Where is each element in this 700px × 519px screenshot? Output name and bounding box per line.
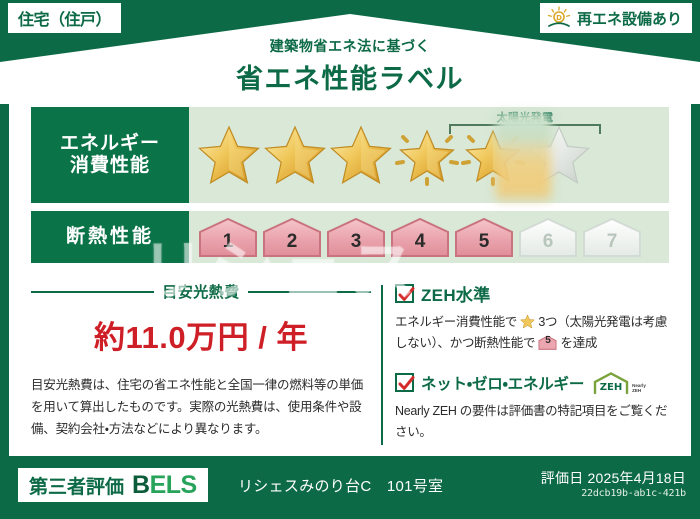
star-filled-2 [263, 123, 327, 187]
star-icon [520, 314, 535, 329]
utility-cost-block: 目安光熱費 約11.0万円 / 年 目安光熱費は、住宅の省エネ性能と全国一律の燃… [31, 281, 371, 441]
zeh-block: ZEH水準 エネルギー消費性能で 3つ（太陽光発電は考慮しない）、かつ断熱性能で… [395, 281, 673, 443]
insulation-level-3: 3 [325, 216, 387, 258]
title-main: 省エネ性能ラベル [0, 57, 700, 96]
bels-logo-b: B [132, 471, 150, 499]
censored-region-overlay [496, 112, 551, 200]
renewable-energy-label: 再エネ設備あり [577, 8, 682, 29]
insulation-level-6: 6 [517, 216, 579, 258]
insulation-level-1: 1 [197, 216, 259, 258]
star-filled-1 [197, 123, 261, 187]
heading-rule-left [31, 291, 154, 293]
energy-performance-label-box: エネルギー 消費性能 [31, 107, 189, 203]
building-type-label: 住宅（住戸） [18, 6, 111, 30]
bels-logo-els: ELS [150, 471, 197, 499]
net-zero-energy-description: Nearly ZEH の要件は評価書の特記項目をご覧ください。 [395, 401, 673, 444]
insulation-level-7: 7 [581, 216, 643, 258]
net-zero-energy-item: ネット・ゼロ・エネルギー ZEH Nearly ZEH Nearly ZEH の… [395, 371, 673, 444]
svg-text:ZEH: ZEH [600, 382, 622, 393]
utility-cost-heading: 目安光熱費 [31, 281, 371, 302]
insulation-level-5: 5 [453, 216, 515, 258]
insulation-level-badge-inline: 5 [538, 335, 557, 350]
checkbox-checked-icon [395, 373, 414, 392]
title-subtitle: 建築物省エネ法に基づく [0, 36, 700, 56]
evaluation-id: 22dcb19b-ab1c-421b [581, 488, 686, 499]
checkbox-checked-icon [395, 284, 414, 303]
insulation-level-value: 1 [223, 231, 234, 258]
zeh-logo-sub-line2: ZEH [632, 388, 641, 393]
net-zero-energy-header: ネット・ゼロ・エネルギー ZEH Nearly ZEH [395, 371, 673, 395]
performance-panel: エネルギー 消費性能 [31, 107, 669, 275]
utility-cost-value: 約11.0万円 / 年 [31, 312, 371, 357]
sun-icon: D [546, 6, 572, 30]
star-filled-3 [329, 123, 393, 187]
energy-performance-label: 住宅（住戸） D 再エネ設備あり 建築物省エネ法に基づく 省エネ性能ラベル [0, 0, 700, 519]
insulation-label: 断熱性能 [66, 226, 154, 248]
section-divider [381, 285, 383, 445]
label-title: 建築物省エネ法に基づく 省エネ性能ラベル [0, 36, 700, 96]
zeh-desc-part3: を達成 [561, 336, 598, 350]
insulation-level-value: 3 [351, 231, 362, 258]
insulation-level-value: 4 [415, 231, 426, 258]
utility-cost-note: 目安光熱費は、住宅の省エネ性能と全国一律の燃料等の単価を用いて算出したものです。… [31, 375, 371, 441]
energy-performance-row: エネルギー 消費性能 [31, 107, 669, 203]
energy-label-line1: エネルギー [60, 133, 160, 155]
energy-label-line2: 消費性能 [70, 155, 150, 177]
insulation-level-value: 7 [607, 231, 618, 258]
bels-certification-chip: 第三者評価 BELS [18, 468, 208, 502]
insulation-performance-row: 断熱性能 1 [31, 211, 669, 263]
insulation-level-value: 2 [287, 231, 298, 258]
label-card: エネルギー 消費性能 [9, 99, 691, 456]
svg-text:D: D [556, 14, 562, 22]
zeh-standard-item: ZEH水準 エネルギー消費性能で 3つ（太陽光発電は考慮しない）、かつ断熱性能で… [395, 281, 673, 355]
property-name: リシェスみのり台C 101号室 [238, 475, 443, 496]
renewable-energy-chip: D 再エネ設備あり [540, 3, 692, 33]
zeh-desc-part1: エネルギー消費性能で [395, 315, 517, 329]
label-footer: 第三者評価 BELS リシェスみのり台C 101号室 評価日 2025年4月18… [0, 456, 700, 519]
insulation-performance-label-box: 断熱性能 [31, 211, 189, 263]
evaluation-date: 評価日 2025年4月18日 [541, 468, 686, 488]
bels-logo: BELS [132, 471, 197, 500]
zeh-standard-description: エネルギー消費性能で 3つ（太陽光発電は考慮しない）、かつ断熱性能で 5 を達成 [395, 312, 673, 355]
utility-cost-heading-text: 目安光熱費 [162, 281, 240, 302]
insulation-level-value: 5 [479, 231, 490, 258]
insulation-level-value: 6 [543, 231, 554, 258]
building-type-chip: 住宅（住戸） [8, 3, 121, 33]
zeh-house-logo-icon: ZEH Nearly ZEH [591, 371, 631, 395]
zeh-standard-title: ZEH水準 [421, 281, 491, 306]
insulation-scale: 1 2 3 [189, 211, 669, 263]
third-party-evaluation-label: 第三者評価 [29, 472, 124, 499]
zeh-standard-header: ZEH水準 [395, 281, 673, 306]
net-zero-energy-title: ネット・ゼロ・エネルギー [421, 372, 584, 394]
insulation-level-4: 4 [389, 216, 451, 258]
zeh-logo-subtext: Nearly ZEH [632, 384, 648, 394]
heading-rule-right [248, 291, 371, 293]
insulation-level-2: 2 [261, 216, 323, 258]
insulation-level-badge-value: 5 [538, 335, 557, 350]
